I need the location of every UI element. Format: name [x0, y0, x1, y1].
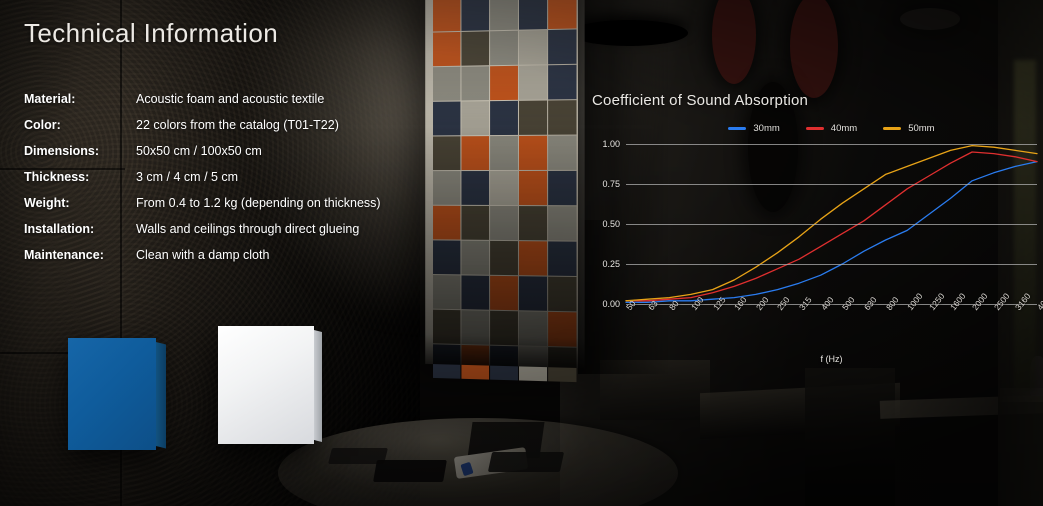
- chart-y-axis: 0.000.250.500.751.00: [592, 144, 624, 304]
- chart-legend: 30mm40mm50mm: [626, 123, 1037, 134]
- white-panel-face: [218, 326, 314, 444]
- chart-gridline: [626, 264, 1037, 265]
- spec-row: Dimensions:50x50 cm / 100x50 cm: [24, 144, 381, 170]
- spec-row: Installation:Walls and ceilings through …: [24, 222, 381, 248]
- legend-swatch-icon: [728, 127, 746, 131]
- page-title: Technical Information: [24, 18, 278, 49]
- spec-label: Material:: [24, 92, 136, 118]
- legend-swatch-icon: [806, 127, 824, 131]
- sound-absorption-chart: Coefficient of Sound Absorption 30mm40mm…: [592, 92, 1037, 367]
- spec-label: Installation:: [24, 222, 136, 248]
- chart-series-line: [626, 152, 1037, 301]
- chart-x-axis-label: f (Hz): [626, 354, 1037, 364]
- blue-panel-edge: [156, 342, 166, 448]
- spec-row: Maintenance:Clean with a damp cloth: [24, 248, 381, 274]
- spec-row: Color:22 colors from the catalog (T01-T2…: [24, 118, 381, 144]
- chart-x-axis: f (Hz) 506380100125160200250315400500630…: [626, 304, 1037, 356]
- spec-value: 22 colors from the catalog (T01-T22): [136, 118, 381, 144]
- spec-value: Walls and ceilings through direct gluein…: [136, 222, 381, 248]
- spec-label: Thickness:: [24, 170, 136, 196]
- product-white-panel: [218, 326, 314, 444]
- blue-panel-face: [68, 338, 156, 450]
- spec-row: Material:Acoustic foam and acoustic text…: [24, 92, 381, 118]
- legend-label: 50mm: [908, 123, 934, 134]
- spec-row: Thickness: 3 cm / 4 cm / 5 cm: [24, 170, 381, 196]
- y-axis-tick-label: 0.75: [602, 179, 620, 189]
- spec-value: Clean with a damp cloth: [136, 248, 381, 274]
- chart-gridline: [626, 144, 1037, 145]
- legend-label: 40mm: [831, 123, 857, 134]
- y-axis-tick-label: 0.25: [602, 259, 620, 269]
- legend-item[interactable]: 50mm: [883, 123, 934, 134]
- spec-value: 3 cm / 4 cm / 5 cm: [136, 170, 381, 196]
- y-axis-tick-label: 0.00: [602, 299, 620, 309]
- chart-plot-area: 0.000.250.500.751.00: [592, 144, 1037, 304]
- chart-title: Coefficient of Sound Absorption: [592, 92, 1037, 109]
- product-blue-panel: [68, 338, 156, 450]
- spec-label: Color:: [24, 118, 136, 144]
- y-axis-tick-label: 1.00: [602, 139, 620, 149]
- spec-row: Weight:From 0.4 to 1.2 kg (depending on …: [24, 196, 381, 222]
- chart-series-line: [626, 162, 1037, 303]
- spec-label: Maintenance:: [24, 248, 136, 274]
- chart-gridline: [626, 184, 1037, 185]
- chart-gridline: [626, 224, 1037, 225]
- spec-value: From 0.4 to 1.2 kg (depending on thickne…: [136, 196, 381, 222]
- technical-spec-table: Material:Acoustic foam and acoustic text…: [24, 92, 381, 274]
- spec-value: Acoustic foam and acoustic textile: [136, 92, 381, 118]
- white-panel-edge: [314, 330, 322, 442]
- chart-plot: [626, 144, 1037, 304]
- legend-item[interactable]: 30mm: [728, 123, 779, 134]
- spec-value: 50x50 cm / 100x50 cm: [136, 144, 381, 170]
- content-layer: Technical Information Material:Acoustic …: [0, 0, 1043, 506]
- legend-swatch-icon: [883, 127, 901, 131]
- legend-item[interactable]: 40mm: [806, 123, 857, 134]
- y-axis-tick-label: 0.50: [602, 219, 620, 229]
- spec-label: Dimensions:: [24, 144, 136, 170]
- spec-label: Weight:: [24, 196, 136, 222]
- legend-label: 30mm: [753, 123, 779, 134]
